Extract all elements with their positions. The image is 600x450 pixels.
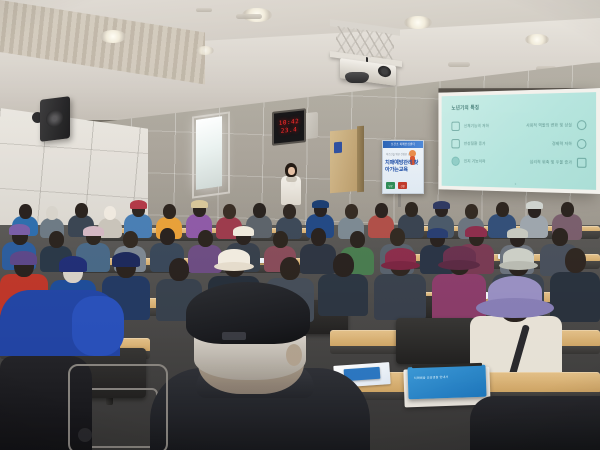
attendee-head bbox=[345, 204, 358, 219]
attendee-head bbox=[163, 204, 176, 219]
foreground-cap bbox=[186, 282, 310, 344]
attendee-head bbox=[253, 203, 266, 218]
attendee-hat-brim bbox=[476, 298, 554, 318]
attendee-torso bbox=[374, 274, 426, 320]
attendee-sleeve bbox=[72, 296, 124, 356]
slide-title: 노년기의 특징 bbox=[451, 101, 586, 111]
attendee-hat-brim bbox=[499, 261, 538, 270]
leaf-icon bbox=[577, 120, 587, 130]
attendee-head bbox=[280, 257, 300, 280]
clock-temp: 23.4 bbox=[281, 127, 297, 135]
attendee-hat bbox=[10, 251, 37, 265]
ceiling-vent bbox=[448, 62, 470, 67]
attendee-head bbox=[46, 206, 58, 220]
zigzag-icon bbox=[451, 122, 459, 131]
slide-bullet-text: 신체기능의 저하 bbox=[464, 123, 489, 129]
attendee-hat bbox=[427, 228, 448, 238]
attendee bbox=[374, 248, 426, 314]
attendee-head bbox=[496, 202, 509, 217]
booklet-title: 치매예방 건강생활 안내서 bbox=[414, 375, 449, 380]
attendee-hat-brim bbox=[381, 261, 420, 270]
pen-icon bbox=[577, 158, 587, 168]
downlight bbox=[100, 30, 126, 43]
cap-strap-icon bbox=[222, 332, 246, 340]
attendee-head bbox=[283, 204, 296, 219]
circle-filled-icon bbox=[451, 157, 459, 166]
attendee-head bbox=[561, 202, 574, 217]
slide-bullet: 신체기능의 저하 bbox=[451, 121, 511, 131]
attendee-head bbox=[390, 228, 405, 246]
slide-bullet-text: 만성질환 증가 bbox=[464, 141, 486, 147]
foreground-attendee bbox=[150, 282, 370, 450]
attendee-hat bbox=[526, 201, 543, 209]
slide-columns: 신체기능의 저하 만성질환 증가 인지 기능저하 bbox=[451, 120, 586, 168]
attendee-hat bbox=[9, 224, 30, 235]
slide-column-right: 사회적 역할의 변화 및 상실 경제력 저하 심리적 위축 및 우울 증가 bbox=[521, 120, 587, 168]
slide-column-left: 신체기능의 저하 만성질환 증가 인지 기능저하 bbox=[451, 121, 511, 167]
attendee-hat-brim bbox=[214, 262, 254, 271]
poster-badges: 무료 신청 bbox=[386, 182, 407, 189]
attendee-head bbox=[375, 203, 388, 218]
attendee-head bbox=[273, 231, 288, 248]
poster-badge: 무료 bbox=[386, 182, 395, 189]
event-poster: 보건소 치매안심센터 어르신을 위한 건강한 노후 치매예방관리 찾아가는교육 … bbox=[382, 140, 424, 194]
slide-bullet-text: 인지 기능저하 bbox=[464, 159, 486, 165]
attendee-head bbox=[123, 231, 138, 248]
presentation-slide: 노년기의 특징 신체기능의 저하 만성질환 증가 인지 bbox=[442, 92, 596, 190]
screen-border: 노년기의 특징 신체기능의 저하 만성질환 증가 인지 bbox=[438, 88, 600, 194]
slide-bullet-text: 심리적 위축 및 우울 증가 bbox=[530, 159, 572, 165]
slide-bullet: 사회적 역할의 변화 및 상실 bbox=[521, 120, 587, 130]
slide-bullet: 만성질환 증가 bbox=[451, 139, 511, 149]
square-icon bbox=[451, 139, 459, 148]
presenter-person bbox=[278, 163, 304, 205]
attendee-head bbox=[333, 253, 354, 277]
attendee-head bbox=[565, 248, 586, 273]
attendee-hat bbox=[507, 228, 528, 238]
clock-icon bbox=[577, 139, 587, 149]
attendee-head bbox=[405, 202, 418, 217]
door-sign-icon bbox=[334, 142, 342, 154]
attendee-head bbox=[75, 203, 88, 218]
attendee-hat bbox=[59, 256, 87, 272]
downlight bbox=[525, 34, 549, 45]
poster-title: 치매예방관리 찾아가는교육 bbox=[385, 160, 421, 173]
presenter-face bbox=[288, 167, 295, 175]
ceiling-dome-speaker-icon bbox=[345, 72, 369, 83]
chair-caster bbox=[78, 428, 92, 442]
foreground-attendee-right bbox=[470, 396, 600, 450]
attendee-hat bbox=[112, 252, 140, 267]
attendee-cap bbox=[312, 200, 329, 208]
ceiling-vent bbox=[236, 14, 262, 19]
door-jamb bbox=[357, 126, 364, 193]
poster-badge: 신청 bbox=[398, 182, 407, 189]
lecture-hall-photo: 10:42 23.4 노년기의 특징 신체기능의 저하 만 bbox=[0, 0, 600, 450]
slide-bullet-text: 사회적 역할의 변화 및 상실 bbox=[526, 122, 572, 128]
projection-screen: 노년기의 특징 신체기능의 저하 만성질환 증가 인지 bbox=[438, 88, 600, 194]
wooden-door[interactable] bbox=[330, 129, 360, 194]
attendee-head bbox=[465, 204, 478, 219]
attendee-hat bbox=[465, 226, 487, 237]
narrow-window bbox=[196, 116, 222, 190]
attendee-head bbox=[350, 231, 365, 248]
downlight bbox=[196, 46, 214, 55]
poster-header-bar: 보건소 치매안심센터 bbox=[383, 141, 423, 148]
attendee-hat-brim bbox=[438, 260, 480, 270]
attendee-hat bbox=[130, 200, 147, 209]
slide-bullet: 심리적 위축 및 우울 증가 bbox=[521, 157, 587, 168]
ceiling-vent bbox=[196, 8, 212, 12]
attendee-hat bbox=[433, 201, 450, 209]
attendee-head bbox=[169, 258, 189, 281]
blue-booklet: 치매예방 건강생활 안내서 bbox=[407, 365, 486, 400]
attendee-head bbox=[311, 228, 326, 246]
attendee-head bbox=[198, 230, 213, 247]
attendee-hat bbox=[83, 226, 104, 236]
attendee-head bbox=[19, 204, 32, 219]
slide-page-number: 3 bbox=[515, 182, 516, 186]
foreground-ear bbox=[286, 344, 302, 366]
attendee-head bbox=[49, 231, 64, 248]
attendee-head bbox=[104, 206, 116, 220]
downlight bbox=[404, 16, 432, 29]
attendee-head bbox=[223, 204, 236, 219]
slide-bullet: 경제력 저하 bbox=[521, 139, 587, 149]
attendee-hat bbox=[191, 200, 208, 208]
attendee-head bbox=[160, 228, 175, 245]
attendee-hat bbox=[233, 226, 254, 236]
led-clock-display: 10:42 23.4 bbox=[272, 108, 306, 146]
poster-header-text: 보건소 치매안심센터 bbox=[383, 141, 423, 148]
slide-bullet-text: 경제력 저하 bbox=[552, 141, 572, 147]
slide-bullet: 인지 기능저하 bbox=[451, 157, 511, 167]
